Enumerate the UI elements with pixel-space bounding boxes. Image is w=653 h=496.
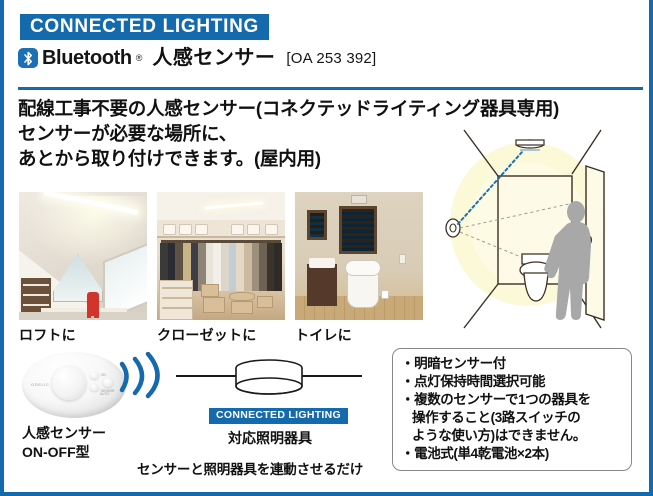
sensor-caption-line-1: 人感センサー (22, 424, 106, 443)
bluetooth-wordmark: Bluetooth (42, 48, 132, 68)
lead-line-1: 配線工事不要の人感センサー(コネクテッドライティング器具専用) (18, 96, 653, 121)
feature-item: ような使い方)はできません。 (401, 427, 625, 445)
toilet-room-diagram (436, 128, 646, 333)
sensor-brand-mark: ODELIC (31, 382, 50, 387)
closet-photo (157, 192, 285, 320)
feature-item: 明暗センサー付 (401, 355, 625, 373)
link-caption: センサーと照明器具を連動させるだけ (137, 458, 363, 478)
closet-photo-caption: クローゼットに (157, 325, 256, 345)
wireless-signal-icon (116, 352, 172, 400)
feature-item: 点灯保持時間選択可能 (401, 373, 625, 391)
product-spec-page: CONNECTED LIGHTING Bluetooth ® 人感センサー [O… (0, 0, 653, 496)
feature-item: 操作すること(3路スイッチの (401, 409, 625, 427)
wall-sensor-icon (446, 219, 460, 237)
feature-info-box: 明暗センサー付 点灯保持時間選択可能 複数のセンサーで1つの器具を 操作すること… (392, 348, 632, 471)
header-divider (18, 87, 643, 90)
registered-mark: ® (136, 53, 143, 63)
toilet-photo-caption: トイレに (295, 325, 352, 345)
ceiling-fixture-drawing (174, 358, 364, 406)
loft-photo (19, 192, 147, 320)
product-title-row: Bluetooth ® 人感センサー [OA 253 392] (18, 48, 376, 68)
fixture-connected-lighting-badge: CONNECTED LIGHTING (209, 408, 348, 424)
motion-sensor-device: ODELIC ON AUTO SENSOR (22, 352, 126, 418)
sensor-lens-dome (52, 366, 86, 400)
feature-item: 複数のセンサーで1つの器具を (401, 391, 625, 409)
fixture-caption: 対応照明器具 (228, 428, 312, 448)
loft-photo-caption: ロフトに (19, 325, 76, 345)
sensor-caption: 人感センサー ON-OFF型 (22, 424, 106, 462)
sensor-button-sensor (103, 378, 113, 387)
sensor-button-auto (90, 384, 99, 391)
sensor-button-on (90, 372, 99, 379)
feature-item: 電池式(単4乾電池×2本) (401, 445, 625, 463)
toilet-photo (295, 192, 423, 320)
bluetooth-icon (18, 48, 38, 68)
connected-lighting-band: CONNECTED LIGHTING (20, 14, 269, 40)
product-name: 人感センサー (152, 48, 275, 68)
product-code: [OA 253 392] (286, 51, 376, 66)
sensor-caption-line-2: ON-OFF型 (22, 443, 106, 462)
feature-list: 明暗センサー付 点灯保持時間選択可能 複数のセンサーで1つの器具を 操作すること… (401, 355, 625, 463)
